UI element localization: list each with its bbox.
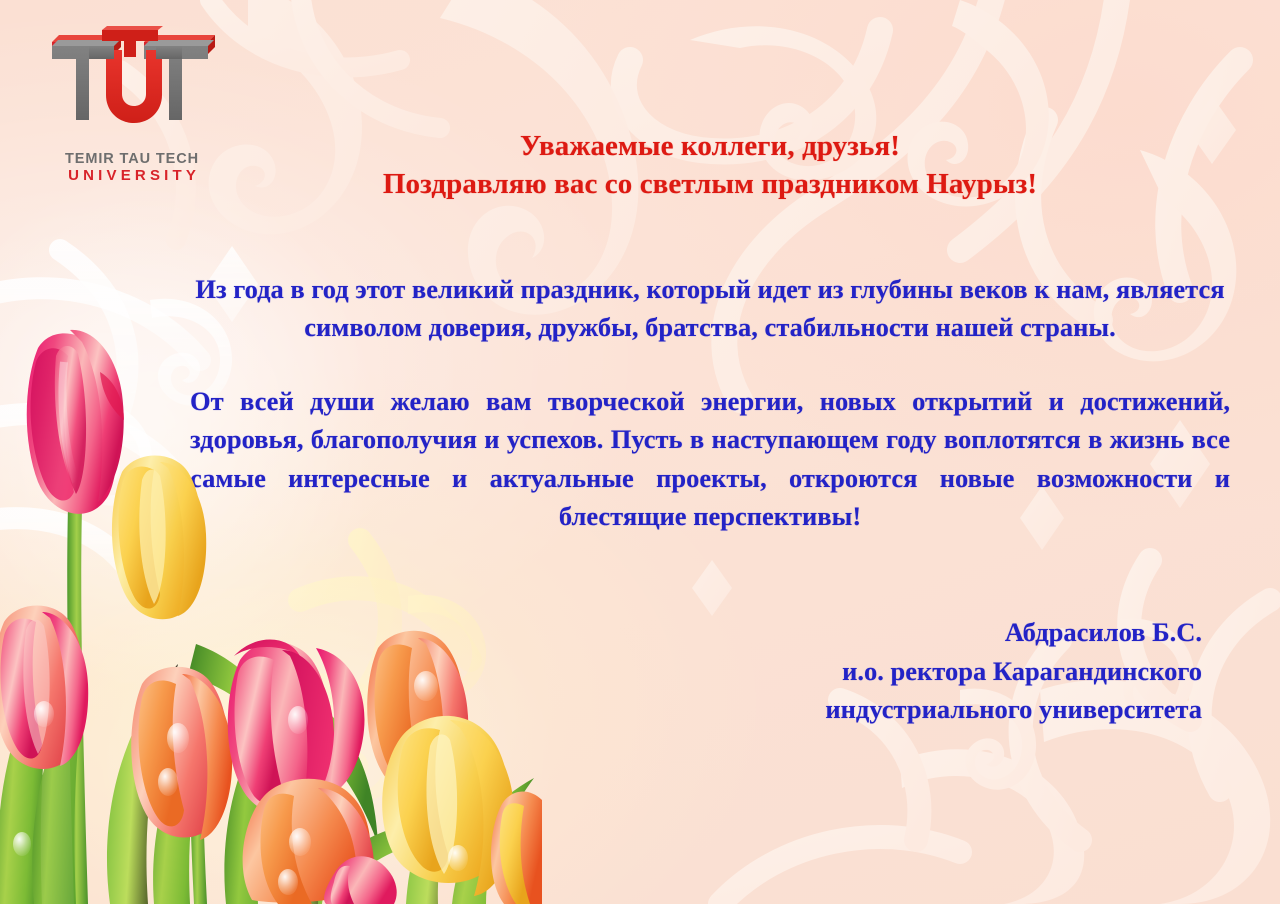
signature-block: Абдрасилов Б.С. и.о. ректора Карагандинс…	[190, 613, 1230, 729]
signature-title-line-2: индустриального университета	[190, 690, 1202, 729]
card-content: Уважаемые коллеги, друзья! Поздравляю ва…	[190, 0, 1230, 904]
greeting-line-2: Поздравляю вас со светлым праздником Нау…	[190, 166, 1230, 204]
nauryz-greeting-card: TEMIR TAU TECH UNIVERSITY Уважаемые колл…	[0, 0, 1280, 904]
body-paragraph-1: Из года в год этот великий праздник, кот…	[190, 270, 1230, 347]
greeting-line-1: Уважаемые коллеги, друзья!	[190, 128, 1230, 166]
greeting-heading: Уважаемые коллеги, друзья! Поздравляю ва…	[190, 128, 1230, 203]
signature-name: Абдрасилов Б.С.	[190, 613, 1202, 652]
body-paragraph-2: От всей души желаю вам творческой энерги…	[190, 382, 1230, 536]
signature-title-line-1: и.о. ректора Карагандинского	[190, 652, 1202, 691]
